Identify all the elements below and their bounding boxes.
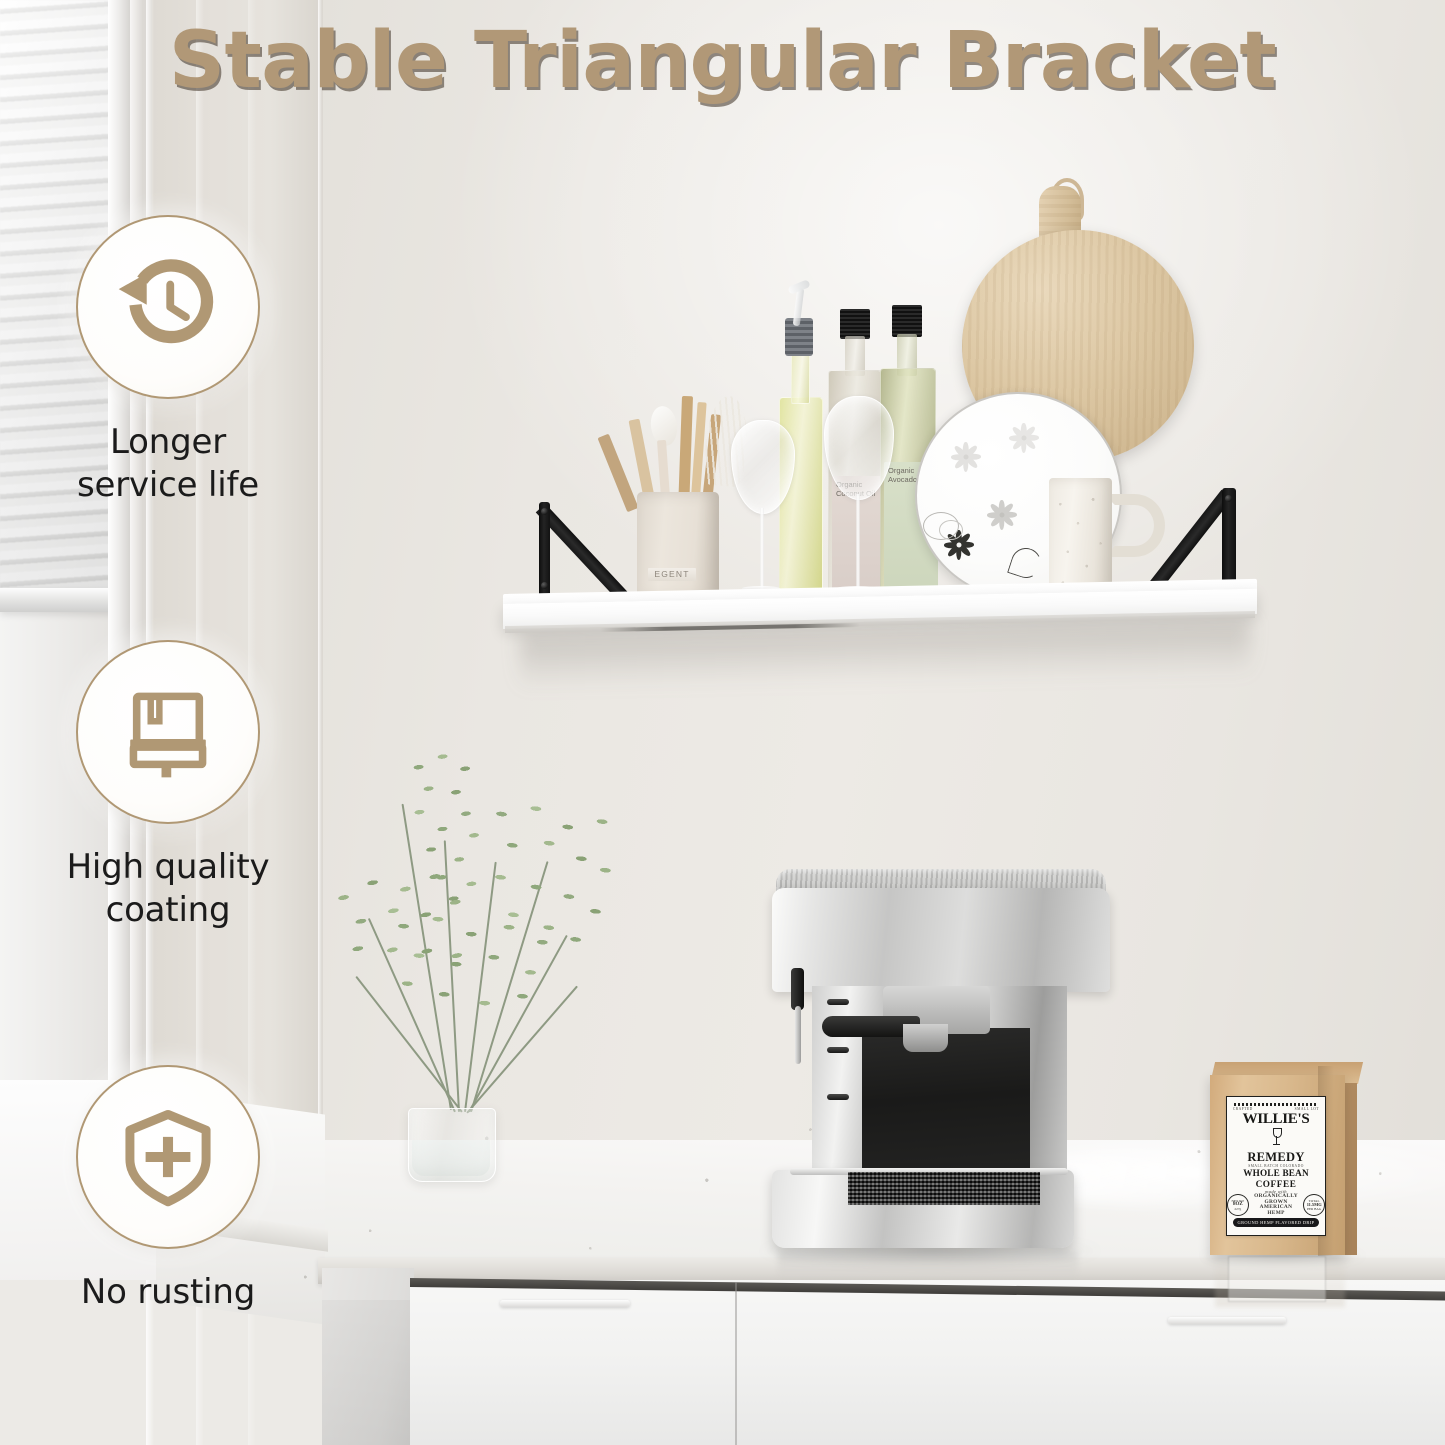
label-net-weight-seal: NET WT 8OZ 227g: [1227, 1194, 1249, 1216]
cabinet-seam: [735, 1282, 737, 1445]
shield-plus-icon: [112, 1101, 224, 1213]
feature-badge-1: [76, 215, 260, 399]
avocado-oil-bottle-cap: [892, 305, 922, 337]
wine-glass-left-stem: [760, 508, 764, 590]
label-product-line-2: COFFEE: [1256, 1179, 1297, 1189]
label-thc-unit: PER BAG: [1307, 1207, 1321, 1211]
label-bottom-banner: GROUND HEMP FLAVORED DRIP: [1233, 1218, 1319, 1227]
label-thc-seal: TOTAL 11.5MG PER BAG: [1303, 1194, 1325, 1216]
label-goblet-emblem: [1271, 1128, 1282, 1150]
label-top-rule: [1234, 1103, 1318, 1106]
label-detail-3: AMERICAN HEMP: [1251, 1205, 1302, 1216]
olive-leaf-cluster-mid: [385, 906, 561, 1025]
plate-daisy-2: [1023, 437, 1024, 438]
page-title: Stable Triangular Bracket: [0, 16, 1445, 106]
espresso-machine-steam-wand-collar: [791, 968, 804, 1010]
mug-handle: [1104, 494, 1165, 557]
wall-corner-edge: [318, 0, 323, 1245]
espresso-machine-drip-tray: [848, 1172, 1040, 1205]
coffee-bag-label: CRAFTED SMALL LOT WILLIE'S REMEDY SMALL …: [1226, 1096, 1326, 1236]
window-jamb-inner: [130, 0, 142, 1150]
espresso-machine-steam-wand[interactable]: [795, 1006, 801, 1064]
product-feature-image: Organic Coconut Oil Organic Avocado Oil …: [0, 0, 1445, 1445]
olive-branch-arrangement: [330, 740, 620, 1140]
espresso-machine-reflection: [778, 1252, 1078, 1278]
cabinet-side-shading: [322, 1300, 414, 1445]
bracket-left-screw-bottom: [541, 582, 548, 589]
plate-daisy-3: [1001, 514, 1002, 515]
wine-glass-right-stem: [856, 494, 860, 590]
feature-label-3-line1: No rusting: [81, 1272, 255, 1312]
utensil-crock-label: EGENT: [648, 568, 696, 581]
plate-ring-doodle-2: [939, 520, 963, 540]
paint-brush-icon: [114, 678, 222, 786]
mug-speckle-texture: [1049, 478, 1112, 597]
bracket-left-screw-top: [541, 508, 548, 515]
bracket-right-screw-top: [1225, 495, 1232, 502]
feature-high-quality-coating[interactable]: High quality coating: [40, 640, 296, 932]
feature-label-2-line1: High quality: [67, 847, 270, 887]
utensil-crock: [637, 492, 719, 600]
bracket-left-diagonal-brace: [536, 504, 631, 605]
plate-daisy-4-dark: [958, 544, 959, 545]
espresso-machine-upper-housing: [772, 888, 1110, 992]
vase-water: [412, 1140, 490, 1176]
espresso-machine-knob-3[interactable]: [827, 1094, 849, 1100]
espresso-machine-knob-2[interactable]: [827, 1047, 849, 1053]
feature-badge-2: [76, 640, 260, 824]
label-brand: WILLIE'S: [1243, 1111, 1310, 1127]
plate-daisy-1: [965, 456, 966, 457]
oil-pourer-bottle: [779, 397, 823, 599]
feature-label-3: No rusting: [40, 1271, 296, 1314]
window-jamb-outer: [108, 0, 130, 1150]
left-wall: [150, 0, 322, 1230]
feature-label-1-line1: Longer: [110, 422, 226, 462]
clock-history-icon: [112, 251, 224, 363]
cabinet-handle-left[interactable]: [500, 1300, 630, 1307]
cabinet-handle-right[interactable]: [1168, 1317, 1286, 1324]
espresso-machine-brew-cavity: [862, 1028, 1030, 1183]
label-net-wt-unit: 227g: [1234, 1207, 1241, 1211]
espresso-machine-portafilter-basket: [903, 1024, 948, 1052]
feature-longer-service-life[interactable]: Longer service life: [40, 215, 296, 507]
feature-label-1: Longer service life: [40, 421, 296, 507]
feature-badge-3: [76, 1065, 260, 1249]
feature-no-rusting[interactable]: No rusting: [40, 1065, 296, 1314]
label-product-line-1: WHOLE BEAN: [1243, 1168, 1309, 1179]
window-sill: [0, 588, 118, 612]
plate-swirl-doodle: [1007, 544, 1045, 582]
feature-label-1-line2: service life: [77, 465, 259, 505]
feature-label-2-line2: coating: [106, 890, 231, 930]
coconut-oil-bottle-cap: [840, 309, 870, 339]
oil-pourer-neck: [791, 352, 810, 404]
feature-label-2: High quality coating: [40, 846, 296, 932]
label-sub-brand: REMEDY: [1247, 1151, 1304, 1164]
coffee-bag-label-reflection: [1228, 1256, 1326, 1302]
espresso-machine-knob-1[interactable]: [827, 999, 849, 1005]
